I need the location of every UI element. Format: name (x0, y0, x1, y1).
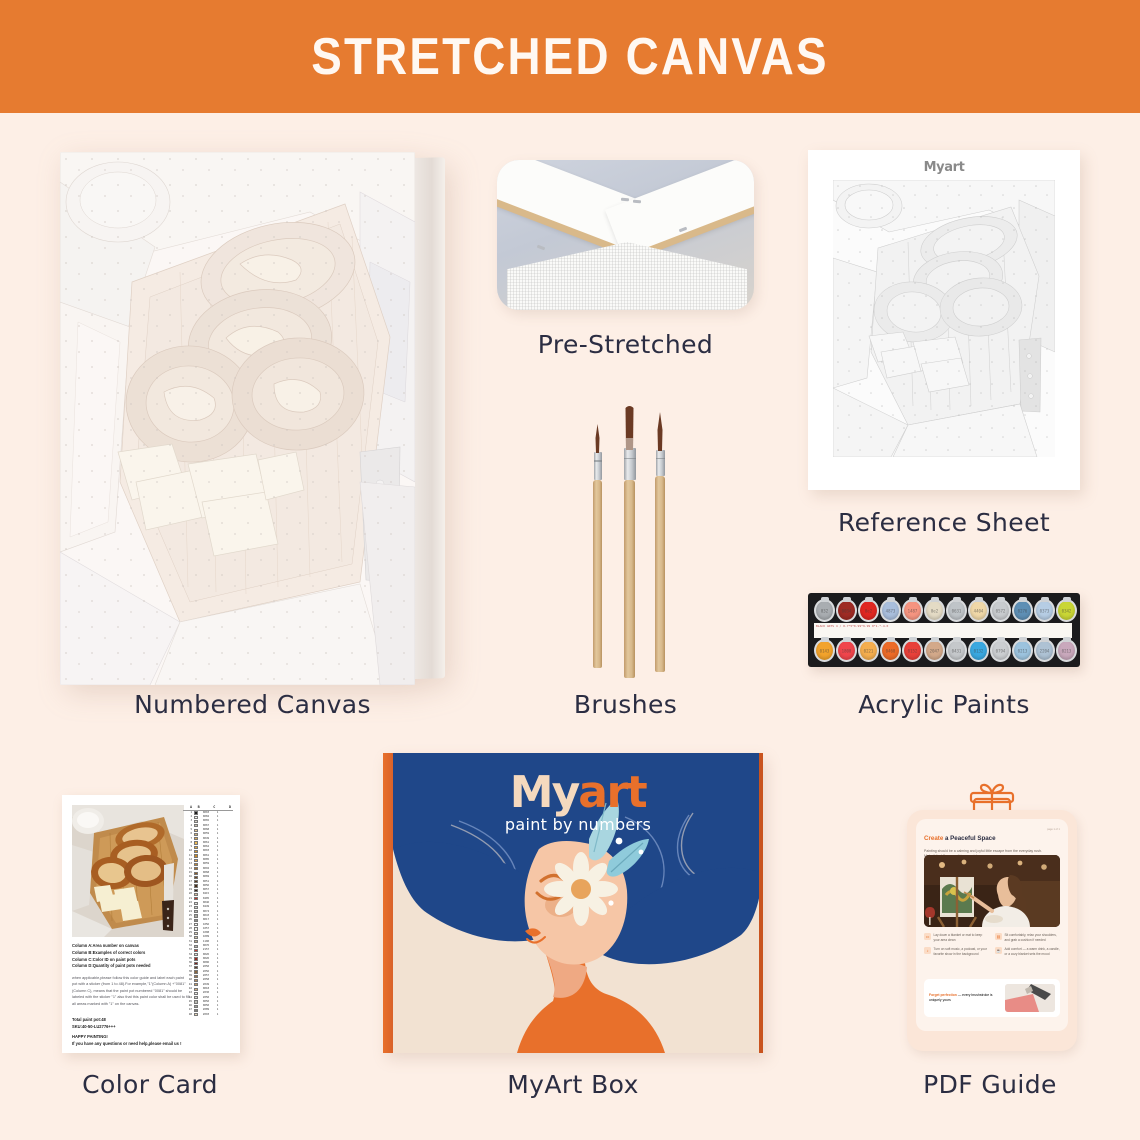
paint-pot-id: 0631 (948, 608, 965, 613)
staple-icon (621, 198, 629, 202)
paint-pot: 0143 (814, 639, 835, 662)
footer-line: If you have any questions or need help,p… (72, 1041, 222, 1048)
brush-small-round (592, 428, 603, 668)
paint-pot-row-top: 03200340e2487314870e20631440405720276037… (814, 599, 1077, 622)
page-title: STRETCHED CANVAS (311, 27, 828, 87)
legend-line: Column D:Quantity of paint pots needed (72, 963, 190, 970)
cell-color-swatch (194, 953, 198, 956)
paint-pot: 0342 (1056, 599, 1077, 622)
staple-icon (537, 245, 546, 251)
paint-pot-id: 0143 (816, 648, 833, 653)
cell-color-swatch (194, 867, 198, 870)
cell-color-swatch (194, 863, 198, 866)
cell-color-swatch (194, 1005, 198, 1008)
brush-flat (622, 406, 637, 678)
cell-color-swatch (194, 979, 198, 982)
cell-color-swatch (194, 833, 198, 836)
canvas-paint-by-numbers-art (60, 152, 415, 685)
cell-color-swatch (194, 841, 198, 844)
paint-tray-label: BLACK ARTS 4 / 0-7*5*0-99*9-99 0*1-*-4.0 (814, 623, 1072, 638)
paint-pot: 0034 (836, 599, 857, 622)
col-b-header: B (198, 805, 202, 808)
pdf-tip-text: Lay down a blanket or mat to keep your a… (934, 933, 990, 942)
cell-color-swatch (194, 945, 198, 948)
cell-color-swatch (194, 829, 198, 832)
pdf-note-thumbnail (1005, 984, 1055, 1012)
cell-color-swatch (194, 872, 198, 875)
table-body: 1000312008213006514006715006816005917004… (183, 811, 233, 1017)
brush-ferrule (656, 450, 665, 476)
pdf-heading-accent: Create (924, 835, 943, 842)
cell-color-swatch (194, 919, 198, 922)
cell-color-swatch (194, 957, 198, 960)
paint-pot-id: 1487 (904, 608, 921, 613)
caption-acrylic-paints: Acrylic Paints (808, 690, 1080, 719)
desk-icon: ▭ (924, 933, 931, 940)
cell-color-swatch (194, 893, 198, 896)
cell-color-swatch (194, 880, 198, 883)
staple-icon (633, 200, 641, 204)
cell-color-swatch (194, 988, 198, 991)
paint-pot: 0794 (990, 639, 1011, 662)
col-d-header: D (227, 805, 233, 809)
brush-ferrule (624, 448, 636, 480)
canvas-side-edge (415, 157, 445, 679)
paint-pot: 032 (814, 599, 835, 622)
brush-medium-round (654, 414, 666, 672)
paint-pot: 2047 (924, 639, 945, 662)
legend-line: Column C:Color ID on paint pots (72, 957, 190, 964)
cell-color-swatch (194, 876, 198, 879)
reference-sheet-logo: Myart (808, 160, 1080, 175)
box-spine (383, 753, 393, 1053)
pdf-footer-note: Forget perfection — every brushstroke is… (924, 979, 1060, 1017)
caption-pdf-guide: PDF Guide (890, 1070, 1090, 1099)
brush-handle (655, 476, 665, 672)
pdf-tip: ☕Add comfort — a warm drink, a candle, o… (995, 947, 1060, 956)
pdf-guide-image: Create a Peaceful Space page 1 of 1 Pain… (898, 783, 1086, 1051)
paint-pot: 0213 (1056, 639, 1077, 662)
cell-color-swatch (194, 816, 198, 819)
paint-pot: 0132 (968, 639, 989, 662)
paint-pot: 0276 (1012, 599, 1033, 622)
paint-pot: 0213 (1012, 639, 1033, 662)
cell-color-swatch (194, 824, 198, 827)
cell-color-swatch (194, 966, 198, 969)
logo-my-text: My (510, 767, 578, 818)
color-card-photo (72, 805, 184, 937)
paint-pot: 0631 (946, 599, 967, 622)
brush-painting-thumb (1005, 984, 1055, 1012)
reference-line-art (833, 180, 1055, 457)
cell-color-swatch (194, 983, 198, 986)
paint-pot-id: 0e2 (860, 608, 877, 613)
footer-line: SKU:40-50-LU2776+++ (72, 1024, 222, 1031)
paint-pot-id: 0e2 (926, 608, 943, 613)
box-front-panel: Myart paint by numbers (393, 753, 763, 1053)
paint-pot-row-bottom: 0143180002210460015220470431013207940213… (814, 639, 1077, 662)
cell-color-swatch (194, 1000, 198, 1003)
cell-color-swatch (194, 949, 198, 952)
canvas-face (60, 152, 415, 685)
chair-icon: ▤ (995, 933, 1002, 940)
cell-color-swatch (194, 992, 198, 995)
caption-myart-box: MyArt Box (383, 1070, 763, 1099)
paint-pot-id: 0213 (1058, 648, 1075, 653)
color-card-table: A B C D 10003120082130065140067150068160… (183, 805, 233, 1033)
reference-sheet-image: Myart (808, 150, 1080, 490)
cell-color-swatch (194, 940, 198, 943)
cell-color-swatch (194, 846, 198, 849)
acrylic-paints-image: 03200340e2487314870e20631440405720276037… (808, 593, 1080, 667)
pdf-tip-text: Turn on soft music, a podcast, or your f… (934, 947, 990, 956)
myart-box-image: Myart paint by numbers (383, 753, 763, 1053)
paint-pot-id: 0132 (970, 648, 987, 653)
numbered-canvas-image (60, 152, 445, 685)
color-card-image: A B C D 10003120082130065140067150068160… (62, 795, 240, 1053)
pdf-guide-page: Create a Peaceful Space page 1 of 1 Pain… (916, 819, 1068, 1031)
pdf-heading: Create a Peaceful Space (924, 827, 1060, 845)
paint-pot-id: 0794 (992, 648, 1009, 653)
cell-color-swatch (194, 884, 198, 887)
pdf-tip-text: Add comfort — a warm drink, a candle, or… (1005, 947, 1061, 956)
cell-color-swatch (194, 932, 198, 935)
pdf-tip: ▭Lay down a blanket or mat to keep your … (924, 933, 989, 942)
cell-color-swatch (194, 906, 198, 909)
paint-pot: 1487 (902, 599, 923, 622)
paint-pot: 0572 (990, 599, 1011, 622)
reference-sheet-artwork (833, 180, 1055, 457)
pdf-tips-list: ▭Lay down a blanket or mat to keep your … (924, 933, 1060, 956)
col-a-header: A (183, 805, 192, 809)
paint-pot-id: 0431 (948, 648, 965, 653)
paint-pot-id: 1800 (838, 648, 855, 653)
pdf-guide-card-outer: Create a Peaceful Space page 1 of 1 Pain… (907, 810, 1077, 1051)
cell-color-swatch (194, 897, 198, 900)
paint-pot-id: 0221 (860, 648, 877, 653)
cell-color-swatch (194, 854, 198, 857)
myart-logo: Myart (393, 767, 763, 818)
caption-color-card: Color Card (50, 1070, 250, 1099)
cell-color-swatch (194, 837, 198, 840)
pdf-heading-rest: a Peaceful Space (943, 835, 995, 842)
cell-color-swatch (194, 910, 198, 913)
reference-photo (72, 805, 184, 937)
cell-color-swatch (194, 811, 198, 814)
paint-pot: 0e2 (858, 599, 879, 622)
caption-numbered-canvas: Numbered Canvas (60, 690, 445, 719)
cell-color-swatch (194, 859, 198, 862)
cell-color-swatch (194, 996, 198, 999)
brush-handle (624, 480, 635, 678)
pdf-note-text: Forget perfection — every brushstroke is… (929, 993, 1005, 1003)
cell-color-swatch (194, 970, 198, 973)
paint-pot-id: 032 (816, 608, 833, 613)
music-icon: ♪ (924, 947, 931, 954)
paint-pot: 0431 (946, 639, 967, 662)
paint-pot-id: 0152 (904, 648, 921, 653)
cell-color-swatch (194, 850, 198, 853)
col-c-header: C (207, 805, 221, 809)
comfort-icon: ☕ (995, 947, 1002, 954)
brush-bristles (655, 412, 665, 452)
pdf-tip: ▤Sit comfortably, relax your shoulders, … (995, 933, 1060, 942)
page-header: STRETCHED CANVAS (0, 0, 1140, 113)
pre-stretched-image (497, 160, 754, 310)
cell-color-swatch (194, 902, 198, 905)
paint-pot-id: 2047 (926, 648, 943, 653)
paint-pot: 4404 (968, 599, 989, 622)
footer-line: Total paint pot:48 (72, 1017, 222, 1024)
box-tagline: paint by numbers (393, 815, 763, 834)
paint-pot: 1800 (836, 639, 857, 662)
pdf-note-accent: Forget perfection (929, 993, 957, 997)
paint-pot-id: 4404 (970, 608, 987, 613)
pdf-photo-painter (924, 855, 1060, 927)
cell-color-swatch (194, 975, 198, 978)
paint-pot-id: 0034 (838, 608, 855, 613)
paint-pot-id: 0342 (1058, 608, 1075, 613)
paint-pot-id: 0572 (992, 608, 1009, 613)
cell-color-swatch (194, 1009, 198, 1012)
footer-line: HAPPY PAINTING! (72, 1034, 222, 1041)
canvas-weave-texture (507, 242, 747, 310)
paint-pot: 0e2 (924, 599, 945, 622)
color-card-instructions: when applicable,please follow this color… (72, 975, 190, 1007)
paint-pot-id: 0276 (1014, 608, 1031, 613)
paint-pot: 0221 (858, 639, 879, 662)
color-card-footer: Total paint pot:48SKU:40-50-LU2776+++HAP… (72, 1017, 222, 1047)
cell-color-swatch (194, 936, 198, 939)
paint-pot: 2204 (1034, 639, 1055, 662)
legend-line: Column B:Examples of correct colors (72, 950, 190, 957)
pdf-tip: ♪Turn on soft music, a podcast, or your … (924, 947, 989, 956)
cell-color-swatch (194, 889, 198, 892)
cell-color-swatch (194, 1013, 198, 1016)
brush-bristles (623, 404, 636, 450)
caption-brushes: Brushes (497, 690, 754, 719)
paint-pot-id: 4873 (882, 608, 899, 613)
brush-ferrule (594, 452, 602, 480)
brush-handle (593, 480, 602, 668)
paint-pot-id: 0213 (1014, 648, 1031, 653)
paint-pot: 0152 (902, 639, 923, 662)
brush-bristles (593, 424, 602, 454)
pdf-page-number: page 1 of 1 (1047, 828, 1060, 831)
paint-pot: 0373 (1034, 599, 1055, 622)
caption-pre-stretched: Pre-Stretched (497, 330, 754, 359)
paint-pot-id: 0373 (1036, 608, 1053, 613)
paint-pot: 0460 (880, 639, 901, 662)
logo-art-text: art (578, 767, 646, 818)
caption-reference-sheet: Reference Sheet (808, 508, 1080, 537)
legend-line: Column A:Area number on canvas (72, 943, 190, 950)
paint-pot-id: 0460 (882, 648, 899, 653)
pdf-tip-text: Sit comfortably, relax your shoulders, a… (1005, 933, 1061, 942)
cell-color-swatch (194, 820, 198, 823)
brushes-image (578, 388, 682, 678)
cell-color-swatch (194, 923, 198, 926)
cell-color-swatch (194, 914, 198, 917)
paint-pot-id: 2204 (1036, 648, 1053, 653)
painter-scene (924, 855, 1060, 927)
cell-color-swatch (194, 927, 198, 930)
paint-pot: 4873 (880, 599, 901, 622)
cell-color-swatch (194, 962, 198, 965)
color-card-legend: Column A:Area number on canvasColumn B:E… (72, 943, 190, 970)
